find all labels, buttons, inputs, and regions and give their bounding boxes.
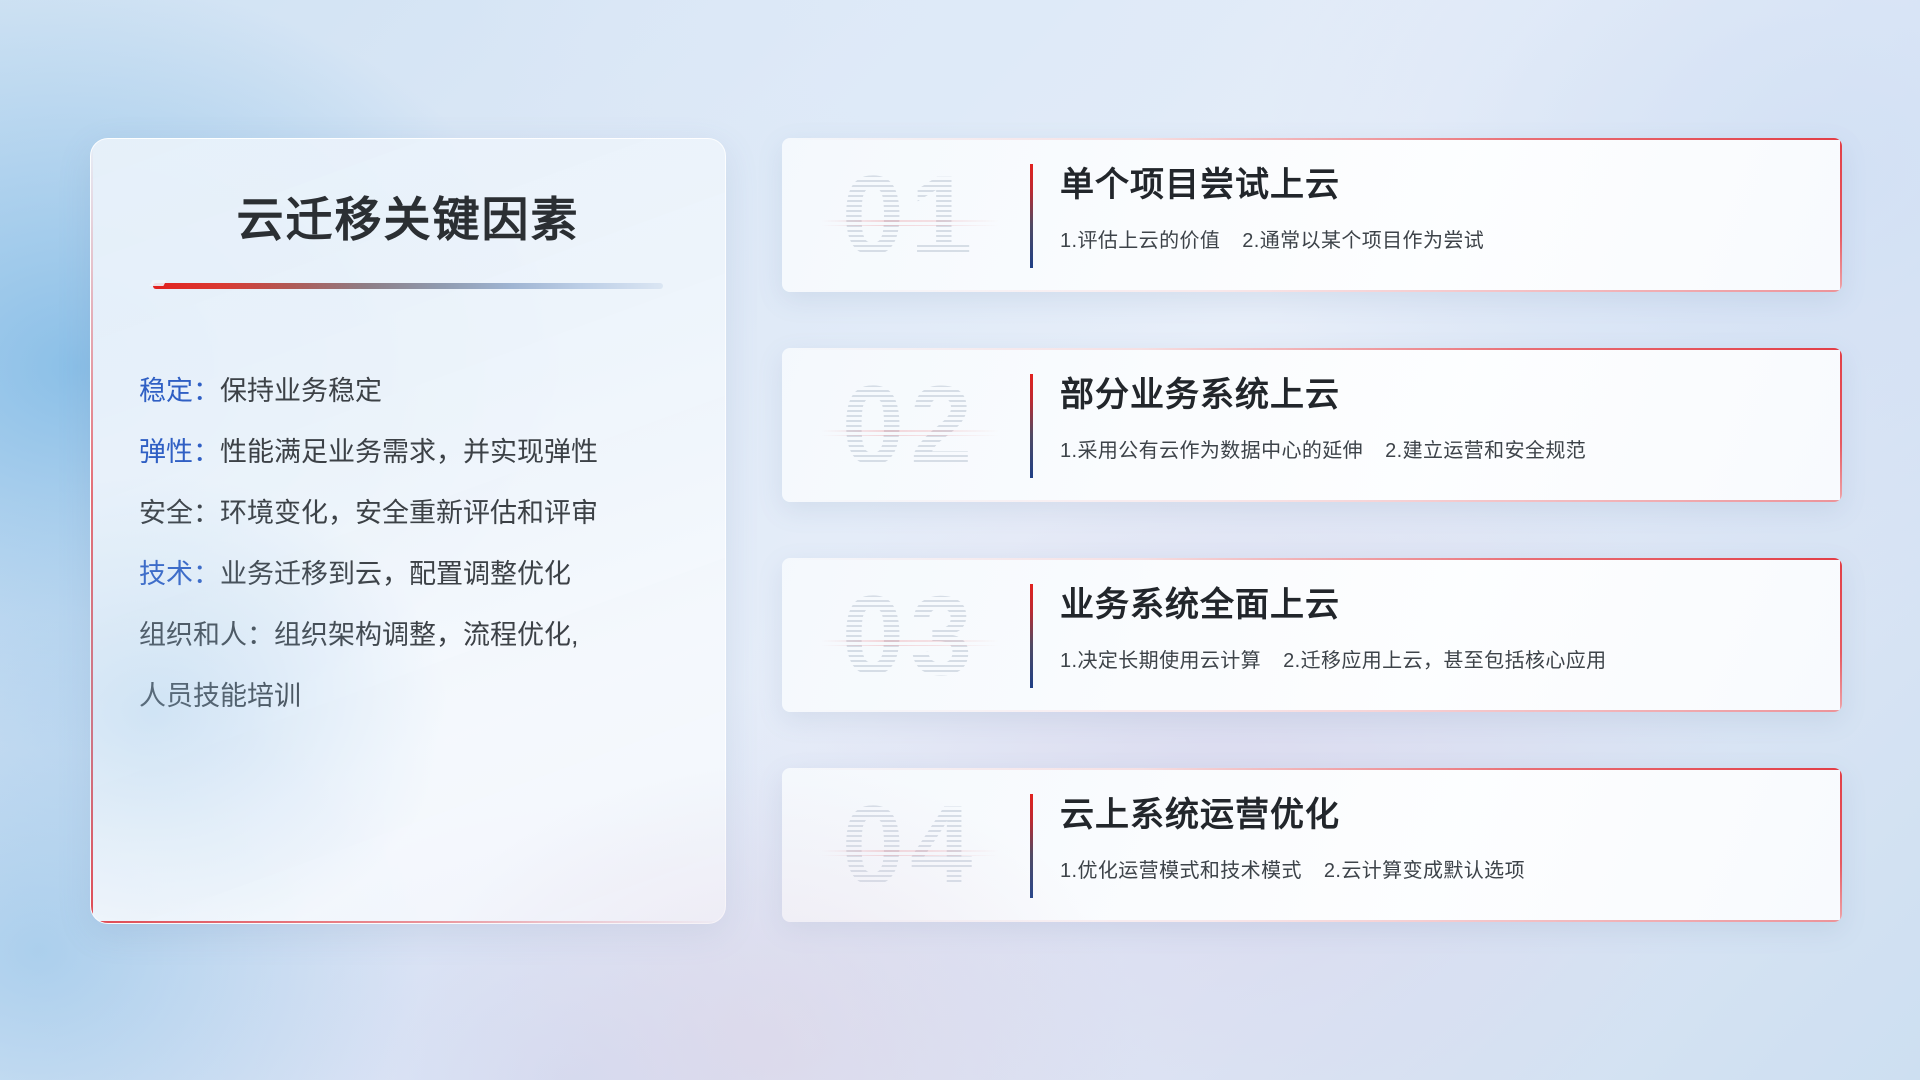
- card-index-number: 03: [804, 570, 1016, 702]
- card-right-accent-line: [1840, 768, 1842, 922]
- card-body: 云上系统运营优化 1.优化运营模式和技术模式2.云计算变成默认选项: [1060, 790, 1816, 883]
- card-title: 部分业务系统上云: [1060, 370, 1816, 420]
- card-right-accent-line: [1840, 348, 1842, 502]
- card-divider-bar: [1030, 164, 1033, 268]
- stage-card[interactable]: 02 部分业务系统上云 1.采用公有云作为数据中心的延伸2.建立运营和安全规范: [782, 348, 1842, 502]
- factor-item: 稳定：保持业务稳定: [139, 361, 685, 422]
- factor-text: 人员技能培训: [139, 681, 301, 711]
- factor-label: 组织和人：: [139, 620, 274, 650]
- panel-bottom-accent-line: [91, 921, 725, 923]
- card-divider-bar: [1030, 374, 1033, 478]
- factor-text: 性能满足业务需求，并实现弹性: [220, 437, 598, 467]
- card-bottom-accent-line: [782, 290, 1842, 292]
- stage-card-list: 01 单个项目尝试上云 1.评估上云的价值2.通常以某个项目作为尝试 02 部分…: [782, 138, 1842, 978]
- factor-text: 业务迁移到云，配置调整优化: [220, 559, 571, 589]
- factor-text: 组织架构调整，流程优化,: [274, 620, 579, 650]
- card-description-part-2: 2.迁移应用上云，甚至包括核心应用: [1283, 650, 1606, 672]
- card-index-number: 04: [804, 780, 1016, 912]
- card-description: 1.评估上云的价值2.通常以某个项目作为尝试: [1060, 224, 1816, 253]
- card-bottom-accent-line: [782, 500, 1842, 502]
- factor-item: 组织和人：组织架构调整，流程优化,: [139, 605, 685, 666]
- card-bottom-accent-line: [782, 710, 1842, 712]
- card-description-part-1: 1.优化运营模式和技术模式: [1060, 860, 1302, 882]
- factor-label: 稳定：: [139, 376, 220, 406]
- card-description-part-2: 2.云计算变成默认选项: [1324, 860, 1525, 882]
- card-description-part-1: 1.决定长期使用云计算: [1060, 650, 1261, 672]
- panel-title: 云迁移关键因素: [91, 181, 725, 250]
- factor-text: 环境变化，安全重新评估和评审: [220, 498, 598, 528]
- card-description: 1.采用公有云作为数据中心的延伸2.建立运营和安全规范: [1060, 434, 1816, 463]
- key-factors-panel: 云迁移关键因素 稳定：保持业务稳定 弹性：性能满足业务需求，并实现弹性 安全：环…: [90, 138, 726, 924]
- factor-item: 技术：业务迁移到云，配置调整优化: [139, 544, 685, 605]
- card-description: 1.决定长期使用云计算2.迁移应用上云，甚至包括核心应用: [1060, 644, 1816, 673]
- stage-card[interactable]: 04 云上系统运营优化 1.优化运营模式和技术模式2.云计算变成默认选项: [782, 768, 1842, 922]
- card-description: 1.优化运营模式和技术模式2.云计算变成默认选项: [1060, 854, 1816, 883]
- stage-card[interactable]: 03 业务系统全面上云 1.决定长期使用云计算2.迁移应用上云，甚至包括核心应用: [782, 558, 1842, 712]
- card-body: 部分业务系统上云 1.采用公有云作为数据中心的延伸2.建立运营和安全规范: [1060, 370, 1816, 463]
- card-description-part-1: 1.采用公有云作为数据中心的延伸: [1060, 440, 1363, 462]
- stage-card[interactable]: 01 单个项目尝试上云 1.评估上云的价值2.通常以某个项目作为尝试: [782, 138, 1842, 292]
- card-top-accent-line: [782, 348, 1842, 350]
- card-index-number: 02: [804, 360, 1016, 492]
- factor-item-continuation: 人员技能培训: [139, 666, 685, 727]
- card-description-part-2: 2.通常以某个项目作为尝试: [1242, 230, 1484, 252]
- card-top-accent-line: [782, 558, 1842, 560]
- panel-left-accent-line: [91, 139, 93, 923]
- card-right-accent-line: [1840, 138, 1842, 292]
- card-title: 单个项目尝试上云: [1060, 160, 1816, 210]
- card-divider-bar: [1030, 584, 1033, 688]
- factor-label: 技术：: [139, 559, 220, 589]
- factor-label: 弹性：: [139, 437, 220, 467]
- title-underline-rule: [153, 283, 663, 289]
- card-index-number: 01: [804, 150, 1016, 282]
- card-title: 业务系统全面上云: [1060, 580, 1816, 630]
- card-description-part-2: 2.建立运营和安全规范: [1385, 440, 1586, 462]
- card-divider-bar: [1030, 794, 1033, 898]
- card-body: 单个项目尝试上云 1.评估上云的价值2.通常以某个项目作为尝试: [1060, 160, 1816, 253]
- factor-text: 保持业务稳定: [220, 376, 382, 406]
- factor-label: 安全：: [139, 498, 220, 528]
- factor-item: 安全：环境变化，安全重新评估和评审: [139, 483, 685, 544]
- card-description-part-1: 1.评估上云的价值: [1060, 230, 1220, 252]
- card-body: 业务系统全面上云 1.决定长期使用云计算2.迁移应用上云，甚至包括核心应用: [1060, 580, 1816, 673]
- factor-item: 弹性：性能满足业务需求，并实现弹性: [139, 422, 685, 483]
- card-right-accent-line: [1840, 558, 1842, 712]
- card-top-accent-line: [782, 768, 1842, 770]
- factor-list: 稳定：保持业务稳定 弹性：性能满足业务需求，并实现弹性 安全：环境变化，安全重新…: [139, 361, 685, 727]
- slide-canvas: 云迁移关键因素 稳定：保持业务稳定 弹性：性能满足业务需求，并实现弹性 安全：环…: [0, 0, 1920, 1080]
- card-top-accent-line: [782, 138, 1842, 140]
- card-title: 云上系统运营优化: [1060, 790, 1816, 840]
- card-bottom-accent-line: [782, 920, 1842, 922]
